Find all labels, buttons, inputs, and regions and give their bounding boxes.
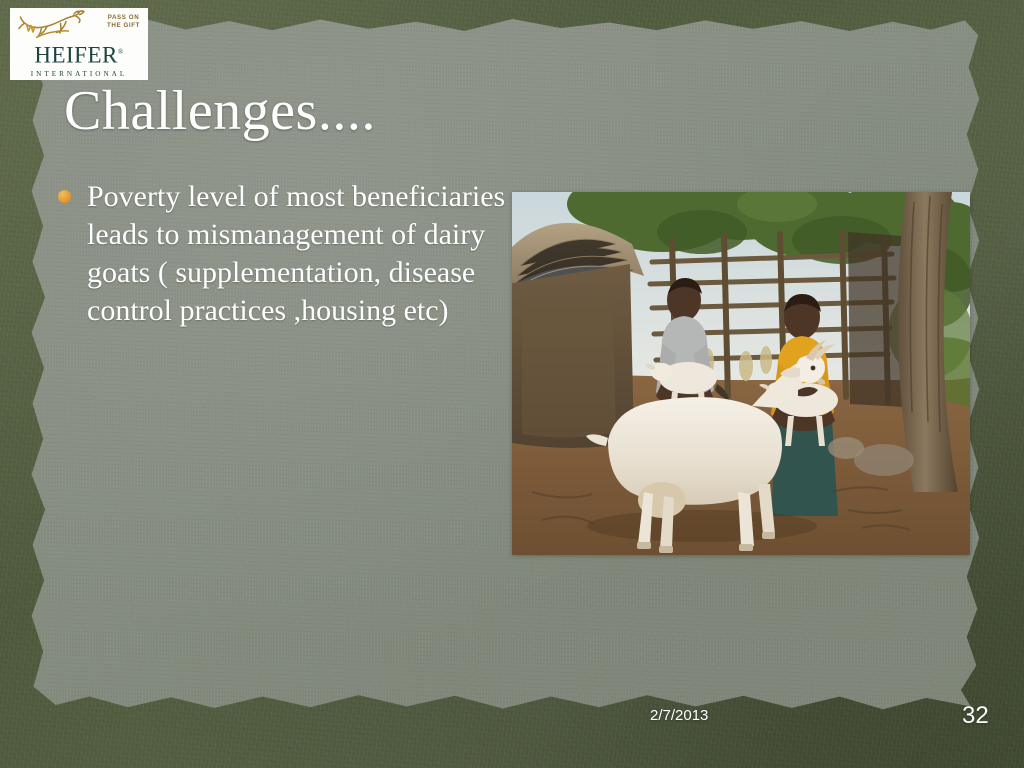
- bullet-point-icon: [58, 190, 71, 203]
- logo-tagline: PASS ON THE GIFT: [107, 14, 140, 29]
- bullet-text: Poverty level of most beneficiaries lead…: [87, 178, 508, 330]
- logo-wordmark: HEIFER®: [34, 40, 123, 68]
- photo-illustration: [512, 192, 970, 555]
- dairy-goat-beneficiaries-photo: [512, 192, 970, 555]
- logo-subtitle: INTERNATIONAL: [31, 70, 128, 78]
- slide-date: 2/7/2013: [650, 707, 708, 724]
- presentation-slide: PASS ON THE GIFT HEIFER® INTERNATIONAL C…: [0, 0, 1024, 768]
- logo-trademark: ®: [118, 48, 124, 56]
- logo-top-row: PASS ON THE GIFT: [10, 10, 148, 41]
- logo-wordmark-text: HEIFER: [34, 43, 118, 68]
- slide-body: Poverty level of most beneficiaries lead…: [58, 178, 508, 330]
- slide-number: 32: [962, 702, 989, 730]
- list-item: Poverty level of most beneficiaries lead…: [58, 178, 508, 330]
- page-title: Challenges....: [64, 80, 376, 142]
- heifer-international-logo: PASS ON THE GIFT HEIFER® INTERNATIONAL: [10, 8, 148, 80]
- logo-tagline-line1: PASS ON: [108, 14, 140, 21]
- logo-tagline-line2: THE GIFT: [107, 22, 140, 29]
